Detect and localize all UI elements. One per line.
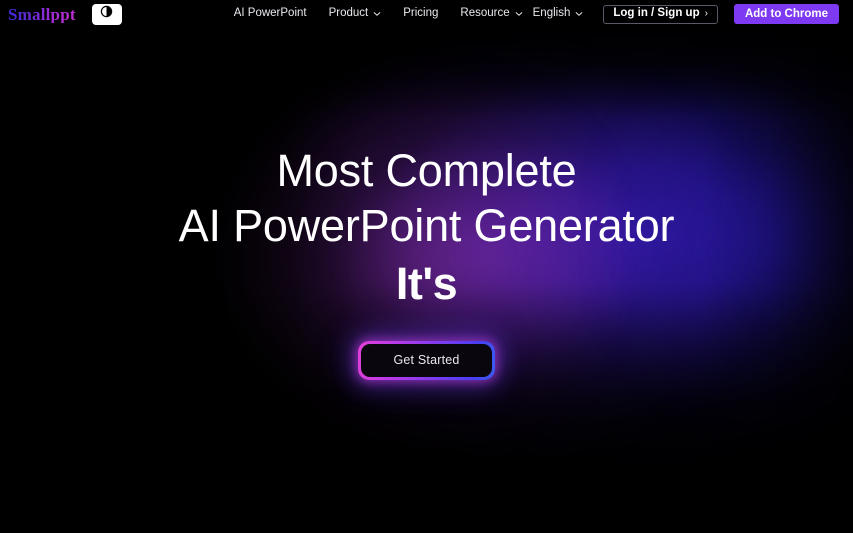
headline-line-2: AI PowerPoint Generator — [0, 198, 853, 253]
chevron-down-icon — [515, 10, 523, 18]
hero-section: Most Complete AI PowerPoint Generator It… — [0, 28, 853, 533]
hero-headline: Most Complete AI PowerPoint Generator It… — [0, 143, 853, 315]
hero-content: Most Complete AI PowerPoint Generator It… — [0, 28, 853, 380]
contrast-circle-icon — [100, 5, 113, 23]
main-navigation: AI PowerPoint Product Pricing Resource — [234, 8, 523, 20]
chevron-down-icon — [575, 10, 583, 18]
page-root: Smallppt AI PowerPoint Product — [0, 0, 853, 533]
nav-label: AI PowerPoint — [234, 8, 307, 20]
language-label: English — [533, 8, 571, 20]
headline-line-1: Most Complete — [0, 143, 853, 198]
site-header: Smallppt AI PowerPoint Product — [0, 0, 853, 28]
chevron-right-icon: › — [705, 9, 708, 19]
logo-smallppt[interactable]: Smallppt — [8, 6, 76, 23]
nav-item-resource[interactable]: Resource — [460, 8, 522, 20]
header-actions: English Log in / Sign up › Add to Chrome — [533, 4, 839, 24]
nav-label: Pricing — [403, 8, 438, 20]
nav-label: Resource — [460, 8, 509, 20]
login-signup-button[interactable]: Log in / Sign up › — [603, 5, 718, 24]
brand-area: Smallppt — [8, 4, 122, 25]
nav-item-pricing[interactable]: Pricing — [403, 8, 438, 20]
get-started-button[interactable]: Get Started — [361, 344, 491, 377]
contrast-toggle-button[interactable] — [92, 4, 122, 25]
chevron-down-icon — [373, 10, 381, 18]
nav-label: Product — [329, 8, 369, 20]
nav-item-ai-powerpoint[interactable]: AI PowerPoint — [234, 8, 307, 20]
cta-area: Get Started — [0, 341, 853, 380]
add-to-chrome-button[interactable]: Add to Chrome — [734, 4, 839, 24]
headline-line-3: It's — [0, 253, 853, 315]
nav-item-product[interactable]: Product — [329, 8, 382, 20]
language-selector[interactable]: English — [533, 8, 584, 20]
get-started-glow-frame: Get Started — [358, 341, 494, 380]
login-signup-label: Log in / Sign up — [613, 8, 699, 20]
